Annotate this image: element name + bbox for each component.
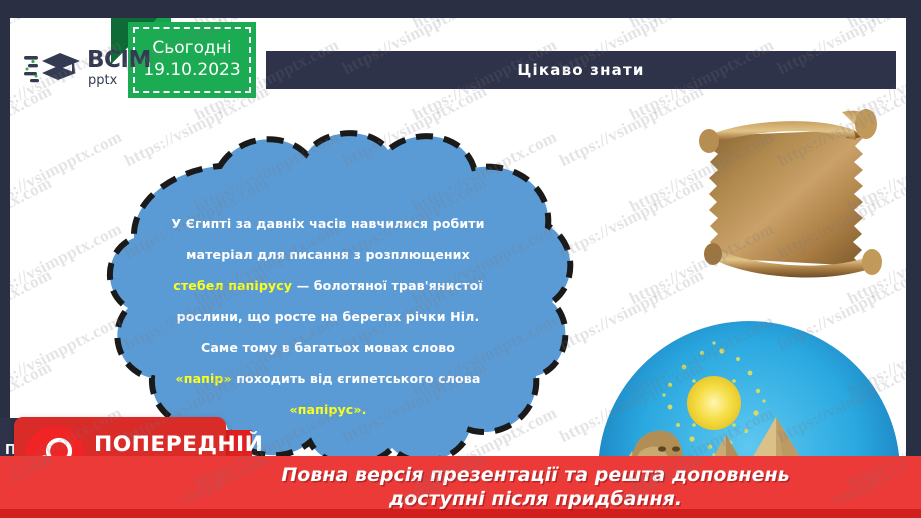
- brand-logo[interactable]: ВСІМ pptx: [24, 48, 151, 88]
- bubble-text-line: У Єгипті за давніх часів навчилися робит…: [138, 208, 518, 239]
- page-title: Цікаво знати: [517, 61, 644, 79]
- bubble-text-line: «папір» походить від єгипетського слова: [138, 363, 518, 394]
- logo-subtitle: pptx: [88, 74, 151, 87]
- bubble-text-run: Саме тому в багатьох мовах слово: [201, 340, 455, 355]
- highlighted-term: «папірус».: [290, 402, 367, 417]
- date-badge-label: Сьогодні: [152, 39, 231, 59]
- logo-wordmark: ВСІМ pptx: [87, 49, 151, 87]
- bubble-text-line: стебел папірусу — болотяної трав'янистої: [138, 270, 518, 301]
- slide-root: У Єгипті за давніх часів навчилися робит…: [0, 0, 921, 518]
- footer-banner: Повна версія презентації та решта доповн…: [0, 456, 921, 518]
- bubble-text-run: — болотяної трав'янистої: [292, 278, 483, 293]
- bubble-text-line: рослини, що росте на берегах річки Ніл.: [138, 301, 518, 332]
- footer-line-1: Повна версія презентації та решта доповн…: [281, 464, 789, 486]
- highlighted-term: «папір»: [176, 371, 232, 386]
- bubble-text: У Єгипті за давніх часів навчилися робит…: [138, 208, 518, 425]
- footer-line-2: доступні після придбання.: [389, 488, 682, 510]
- bubble-text-line: матеріал для писання з розплющених: [138, 239, 518, 270]
- watermark-text: https://vsimpptx.com: [10, 173, 55, 263]
- bubble-text-run: рослини, що росте на берегах річки Ніл.: [177, 309, 480, 324]
- section-title-bar: Цікаво знати: [266, 51, 896, 89]
- preview-label-line1: ПОПЕРЕДНІЙ: [94, 434, 263, 455]
- watermark-text: https://vsimpptx.com: [844, 18, 906, 33]
- date-badge-value: 19.10.2023: [143, 61, 240, 81]
- bubble-text-line: Саме тому в багатьох мовах слово: [138, 332, 518, 363]
- watermark-text: https://vsimpptx.com: [409, 18, 560, 33]
- bubble-text-run: походить від єгипетського слова: [232, 371, 481, 386]
- watermark-text: https://vsimpptx.com: [627, 18, 778, 33]
- watermark-text: https://vsimpptx.com: [10, 18, 125, 33]
- highlighted-term: стебел папірусу: [173, 278, 292, 293]
- logo-name: ВСІМ: [87, 49, 151, 72]
- bubble-text-run: матеріал для писання з розплющених: [186, 247, 470, 262]
- bubble-text-run: У Єгипті за давніх часів навчилися робит…: [171, 216, 484, 231]
- graduation-cap-icon: [24, 48, 82, 88]
- papyrus-scroll-illustration: [682, 104, 900, 294]
- watermark-text: https://vsimpptx.com: [10, 265, 55, 355]
- watermark-text: https://vsimpptx.com: [10, 81, 55, 171]
